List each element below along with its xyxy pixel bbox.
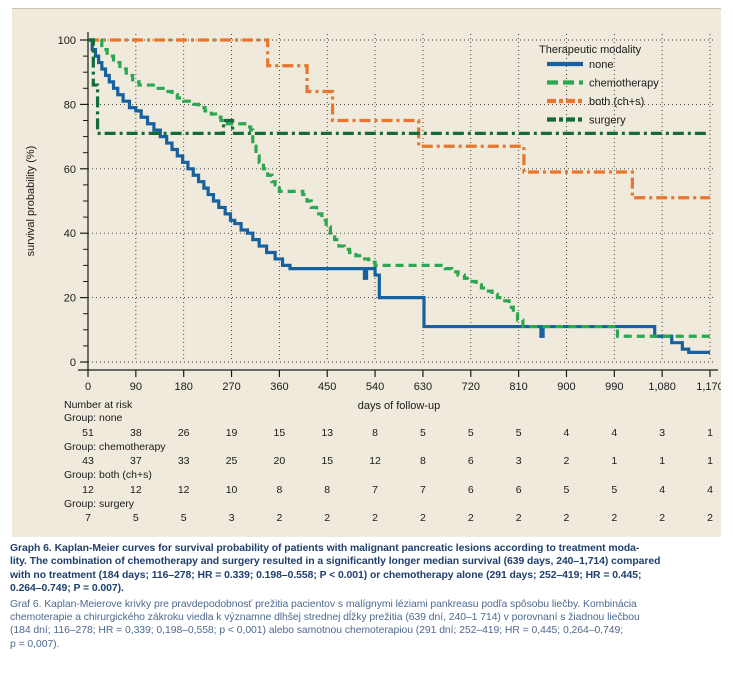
risk-group-label: Group: chemotherapy bbox=[64, 441, 724, 455]
risk-value: 8 bbox=[358, 426, 392, 441]
caption-en-line: Graph 6. Kaplan-Meier curves for surviva… bbox=[10, 542, 725, 555]
risk-value: 2 bbox=[502, 511, 536, 526]
legend-label-2: both (ch+s) bbox=[589, 96, 644, 108]
caption-sk-line: Graf 6. Kaplan-Meierove krivky pre pravd… bbox=[10, 598, 725, 611]
risk-row: 121212108877665544 bbox=[64, 483, 724, 498]
x-axis-tick-label: 180 bbox=[175, 381, 193, 393]
x-axis-tick-label: 990 bbox=[605, 381, 623, 393]
risk-value: 15 bbox=[310, 454, 344, 469]
x-axis-tick-label: 90 bbox=[130, 381, 142, 393]
risk-value: 2 bbox=[693, 511, 727, 526]
risk-value: 6 bbox=[454, 454, 488, 469]
figure-container: 0204060801000901802703604505406307208109… bbox=[0, 0, 733, 681]
risk-value: 51 bbox=[71, 426, 105, 441]
risk-value: 6 bbox=[502, 483, 536, 498]
risk-value: 5 bbox=[454, 426, 488, 441]
risk-value: 2 bbox=[597, 511, 631, 526]
risk-value: 2 bbox=[549, 511, 583, 526]
x-axis-tick-label: 1,080 bbox=[648, 381, 676, 393]
x-axis-tick-label: 1,170 bbox=[696, 381, 721, 393]
risk-group-label: Group: both (ch+s) bbox=[64, 469, 724, 483]
risk-value: 12 bbox=[167, 483, 201, 498]
caption-en-line: 0.264–0.749; P = 0.007). bbox=[10, 582, 725, 595]
risk-value: 26 bbox=[167, 426, 201, 441]
risk-row: 75532222222222 bbox=[64, 511, 724, 526]
risk-value: 7 bbox=[406, 483, 440, 498]
x-axis-tick-label: 540 bbox=[366, 381, 384, 393]
risk-value: 5 bbox=[549, 483, 583, 498]
risk-value: 6 bbox=[454, 483, 488, 498]
risk-value: 12 bbox=[71, 483, 105, 498]
y-axis-tick-label: 80 bbox=[64, 99, 76, 111]
y-axis-tick-label: 0 bbox=[70, 357, 76, 369]
caption-en-line: lity. The combination of chemotherapy an… bbox=[10, 555, 725, 568]
caption-english: Graph 6. Kaplan-Meier curves for surviva… bbox=[10, 542, 725, 596]
risk-value: 3 bbox=[215, 511, 249, 526]
caption-sk-line: chemoterapie a chirurgického zákroku vie… bbox=[10, 611, 725, 624]
x-axis-tick-label: 630 bbox=[414, 381, 432, 393]
risk-value: 1 bbox=[693, 454, 727, 469]
risk-value: 7 bbox=[71, 511, 105, 526]
risk-value: 19 bbox=[215, 426, 249, 441]
number-at-risk-table: Number at risk Group: none51382619151385… bbox=[64, 399, 724, 526]
legend-label-3: surgery bbox=[589, 115, 626, 127]
risk-value: 2 bbox=[310, 511, 344, 526]
y-axis-title: survival probability (%) bbox=[25, 146, 37, 257]
y-axis-tick-label: 20 bbox=[64, 293, 76, 305]
risk-value: 4 bbox=[693, 483, 727, 498]
figure-caption: Graph 6. Kaplan-Meier curves for surviva… bbox=[10, 542, 725, 651]
risk-group-label: Group: surgery bbox=[64, 498, 724, 512]
risk-value: 8 bbox=[262, 483, 296, 498]
risk-value: 12 bbox=[119, 483, 153, 498]
caption-en-line: with no treatment (184 days; 116–278; HR… bbox=[10, 569, 725, 582]
risk-value: 4 bbox=[597, 426, 631, 441]
risk-value: 2 bbox=[406, 511, 440, 526]
risk-value: 12 bbox=[358, 454, 392, 469]
x-axis-tick-label: 0 bbox=[85, 381, 91, 393]
risk-value: 2 bbox=[645, 511, 679, 526]
risk-table-groups: Group: none51382619151385554431Group: ch… bbox=[64, 412, 724, 526]
risk-value: 38 bbox=[119, 426, 153, 441]
risk-value: 1 bbox=[597, 454, 631, 469]
risk-value: 15 bbox=[262, 426, 296, 441]
risk-value: 5 bbox=[597, 483, 631, 498]
x-axis-tick-label: 810 bbox=[509, 381, 527, 393]
risk-value: 10 bbox=[215, 483, 249, 498]
risk-value: 2 bbox=[454, 511, 488, 526]
risk-value: 43 bbox=[71, 454, 105, 469]
risk-value: 33 bbox=[167, 454, 201, 469]
x-axis-tick-label: 360 bbox=[270, 381, 288, 393]
risk-value: 8 bbox=[406, 454, 440, 469]
legend-label-0: none bbox=[589, 59, 613, 71]
y-axis-tick-label: 100 bbox=[58, 35, 76, 47]
risk-value: 20 bbox=[262, 454, 296, 469]
x-axis-tick-label: 270 bbox=[222, 381, 240, 393]
risk-row: 433733252015128632111 bbox=[64, 454, 724, 469]
risk-value: 5 bbox=[406, 426, 440, 441]
risk-value: 1 bbox=[645, 454, 679, 469]
risk-value: 5 bbox=[167, 511, 201, 526]
risk-value: 8 bbox=[310, 483, 344, 498]
caption-sk-line: (184 dní; 116–278; HR = 0,339; 0,198–0,5… bbox=[10, 624, 725, 637]
caption-slovak: Graf 6. Kaplan-Meierove krivky pre pravd… bbox=[10, 598, 725, 652]
x-axis-tick-label: 450 bbox=[318, 381, 336, 393]
caption-sk-line: p = 0,007). bbox=[10, 638, 725, 651]
risk-group-label: Group: none bbox=[64, 412, 724, 426]
risk-value: 4 bbox=[549, 426, 583, 441]
risk-value: 3 bbox=[502, 454, 536, 469]
risk-value: 2 bbox=[549, 454, 583, 469]
risk-value: 5 bbox=[502, 426, 536, 441]
risk-row: 51382619151385554431 bbox=[64, 426, 724, 441]
risk-table-heading: Number at risk bbox=[64, 399, 724, 412]
risk-value: 3 bbox=[645, 426, 679, 441]
x-axis-tick-label: 720 bbox=[462, 381, 480, 393]
risk-value: 25 bbox=[215, 454, 249, 469]
risk-value: 2 bbox=[358, 511, 392, 526]
risk-value: 4 bbox=[645, 483, 679, 498]
legend-title: Therapeutic modality bbox=[539, 44, 642, 56]
chart-panel: 0204060801000901802703604505406307208109… bbox=[12, 8, 721, 537]
y-axis-tick-label: 40 bbox=[64, 228, 76, 240]
risk-value: 5 bbox=[119, 511, 153, 526]
risk-value: 2 bbox=[262, 511, 296, 526]
risk-value: 7 bbox=[358, 483, 392, 498]
risk-value: 1 bbox=[693, 426, 727, 441]
risk-value: 13 bbox=[310, 426, 344, 441]
y-axis-tick-label: 60 bbox=[64, 164, 76, 176]
legend-label-1: chemotherapy bbox=[589, 78, 659, 90]
risk-value: 37 bbox=[119, 454, 153, 469]
x-axis-tick-label: 900 bbox=[557, 381, 575, 393]
